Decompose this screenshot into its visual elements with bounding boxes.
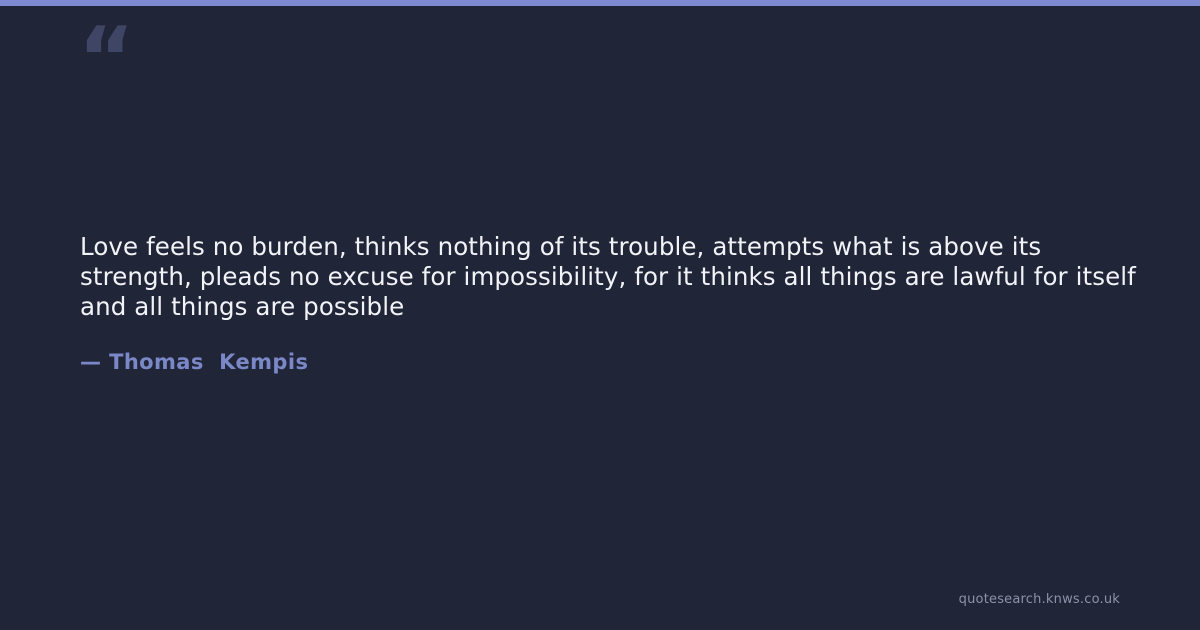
top-accent-bar — [0, 0, 1200, 6]
quote-attribution: — Thomas Kempis — [80, 349, 308, 375]
quote-text: Love feels no burden, thinks nothing of … — [80, 232, 1140, 322]
quote-card: “ Love feels no burden, thinks nothing o… — [0, 0, 1200, 630]
quote-body: Love feels no burden, thinks nothing of … — [80, 232, 1140, 322]
open-quote-icon: “ — [78, 16, 133, 102]
source-url: quotesearch.knws.co.uk — [959, 592, 1120, 608]
